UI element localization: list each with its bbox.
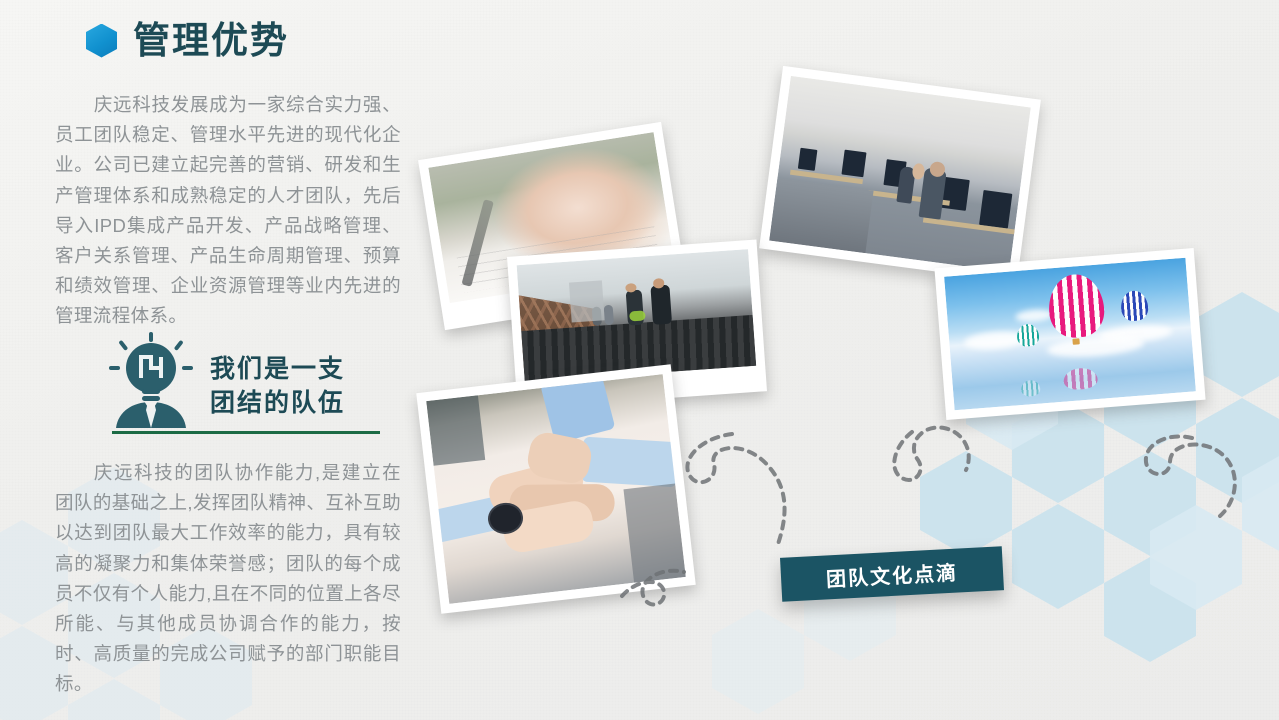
highlight-line-two: 团结的队伍 (210, 386, 345, 420)
slide-header: 管理优势 (86, 22, 289, 59)
team-highlight-text: 我们是一支 团结的队伍 (210, 332, 345, 420)
paragraph-one: 庆远科技发展成为一家综合实力强、员工团队稳定、管理水平先进的现代化企业。公司已建… (55, 90, 401, 332)
paragraph-two-wrapper: 庆远科技的团队协作能力,是建立在团队的基础之上,发挥团队精神、互补互助以达到团队… (55, 458, 403, 700)
culture-label-text: 团队文化点滴 (825, 556, 958, 592)
team-highlight-block: 我们是一支 团结的队伍 (108, 332, 393, 428)
green-divider (112, 431, 380, 434)
hexagon-icon (86, 24, 117, 58)
page-title: 管理优势 (133, 22, 289, 59)
lightbulb-person-icon (108, 332, 194, 428)
paragraph-two: 庆远科技的团队协作能力,是建立在团队的基础之上,发挥团队精神、互补互助以达到团队… (55, 458, 401, 700)
left-text-column: 庆远科技发展成为一家综合实力强、员工团队稳定、管理水平先进的现代化企业。公司已建… (55, 90, 403, 332)
highlight-line-one: 我们是一支 (210, 352, 345, 386)
